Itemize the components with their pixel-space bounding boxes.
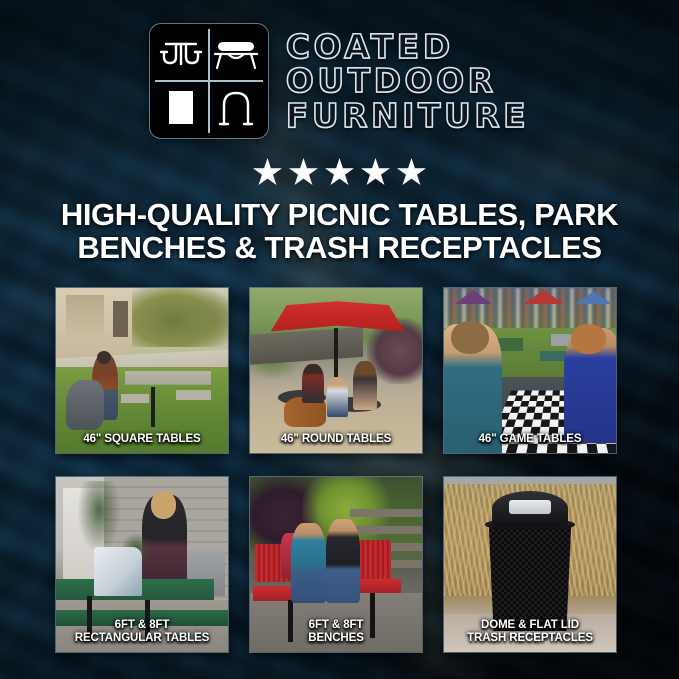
star-icon — [397, 158, 426, 187]
product-row-top: 46" SQUARE TABLES 46" ROUND TABLES — [56, 288, 616, 453]
product-row-bottom: 6FT & 8FT RECTANGULAR TABLES 6FT & 8FT B… — [56, 477, 616, 652]
bike-rack-arch-icon — [209, 81, 263, 133]
product-caption-line-1: DOME & FLAT LID — [447, 619, 613, 632]
product-tile-square-tables[interactable]: 46" SQUARE TABLES — [56, 288, 228, 453]
star-rating — [0, 158, 679, 187]
product-grid: 46" SQUARE TABLES 46" ROUND TABLES — [56, 288, 616, 652]
product-caption-line-1: 6FT & 8FT — [253, 619, 419, 632]
product-caption-line-1: 46" ROUND TABLES — [253, 433, 419, 446]
park-bench-icon — [209, 29, 263, 81]
product-caption: 6FT & 8FT RECTANGULAR TABLES — [56, 619, 228, 645]
headline-line-1: HIGH-QUALITY PICNIC TABLES, PARK — [61, 197, 618, 232]
product-tile-game-tables[interactable]: 46" GAME TABLES — [444, 288, 616, 453]
product-tile-benches[interactable]: 6FT & 8FT BENCHES — [250, 477, 422, 652]
promotional-banner: COATED OUTDOOR FURNITURE HIGH-QUALITY PI… — [0, 0, 679, 679]
product-caption: DOME & FLAT LID TRASH RECEPTACLES — [444, 619, 616, 645]
product-caption-line-2: TRASH RECEPTACLES — [447, 632, 613, 645]
brand-name-line-1: COATED — [286, 30, 529, 64]
product-caption-line-2: BENCHES — [253, 632, 419, 645]
brand-wordmark: COATED OUTDOOR FURNITURE — [286, 30, 529, 133]
trash-receptacle-icon — [155, 81, 209, 133]
product-photo-game-tables — [444, 288, 616, 453]
product-caption: 6FT & 8FT BENCHES — [250, 619, 422, 645]
product-caption-line-2: RECTANGULAR TABLES — [59, 632, 225, 645]
product-caption-line-1: 6FT & 8FT — [59, 619, 225, 632]
product-caption: 46" ROUND TABLES — [250, 433, 422, 446]
brand-header: COATED OUTDOOR FURNITURE — [0, 24, 679, 138]
product-tile-rectangular-tables[interactable]: 6FT & 8FT RECTANGULAR TABLES — [56, 477, 228, 652]
product-tile-trash-receptacles[interactable]: DOME & FLAT LID TRASH RECEPTACLES — [444, 477, 616, 652]
headline-line-2: BENCHES & TRASH RECEPTACLES — [26, 231, 653, 264]
star-icon — [361, 158, 390, 187]
star-icon — [253, 158, 282, 187]
product-caption-line-1: 46" SQUARE TABLES — [59, 433, 225, 446]
star-icon — [325, 158, 354, 187]
brand-name-line-3: FURNITURE — [286, 99, 529, 133]
product-caption: 46" GAME TABLES — [444, 433, 616, 446]
headline: HIGH-QUALITY PICNIC TABLES, PARK BENCHES… — [0, 198, 679, 265]
product-tile-round-tables[interactable]: 46" ROUND TABLES — [250, 288, 422, 453]
brand-name-line-2: OUTDOOR — [286, 64, 529, 98]
brand-logo-mark — [150, 24, 268, 138]
product-photo-square-tables — [56, 288, 228, 453]
product-caption: 46" SQUARE TABLES — [56, 433, 228, 446]
picnic-table-icon — [155, 29, 209, 81]
product-photo-round-tables — [250, 288, 422, 453]
star-icon — [289, 158, 318, 187]
product-caption-line-1: 46" GAME TABLES — [447, 433, 613, 446]
